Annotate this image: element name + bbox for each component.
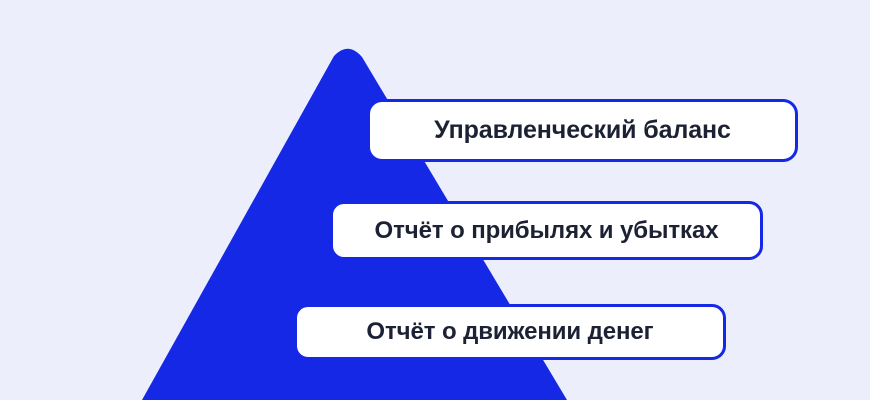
pyramid-infographic: Управленческий баланс Отчёт о прибылях и… <box>0 0 870 400</box>
badge-label: Управленческий баланс <box>434 116 731 145</box>
badge-upravlencheskiy-balans[interactable]: Управленческий баланс <box>367 99 798 162</box>
badge-label: Отчёт о прибылях и убытках <box>375 217 719 245</box>
badge-label: Отчёт о движении денег <box>366 318 653 346</box>
badge-otchet-o-dvizhenii-deneg[interactable]: Отчёт о движении денег <box>294 304 726 360</box>
badge-otchet-o-pribylyah-i-ubytkah[interactable]: Отчёт о прибылях и убытках <box>330 201 763 260</box>
